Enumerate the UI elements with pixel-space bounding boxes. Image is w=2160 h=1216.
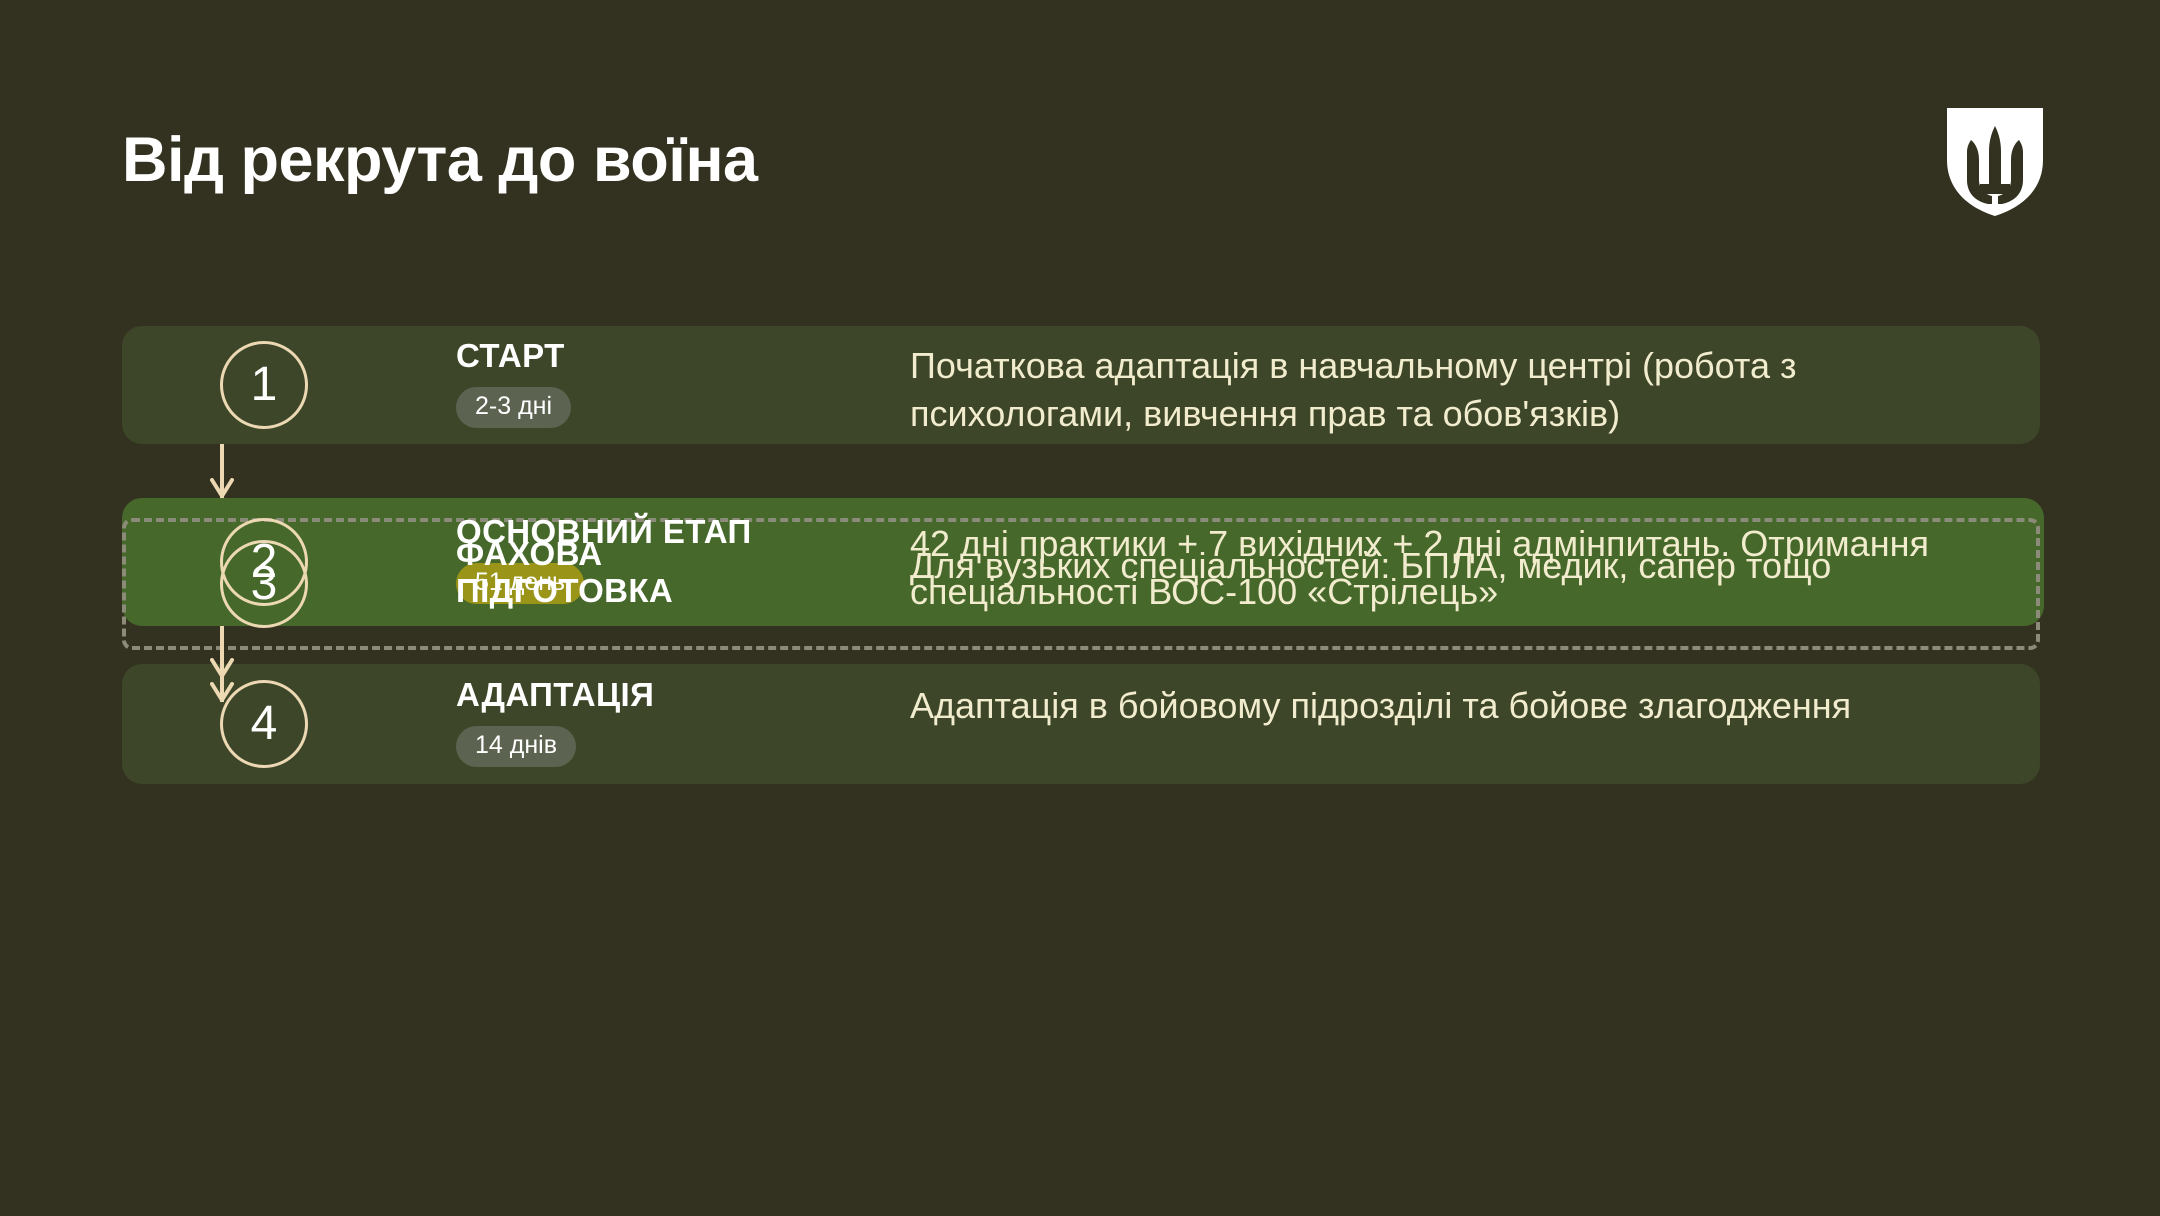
timeline-stage-1[interactable]: 1 СТАРТ 2-3 дні Початкова адаптація в на… [122, 326, 2040, 444]
stage-3-description: Для вузьких спеціальностей: БПЛА, медик,… [910, 542, 2020, 590]
stage-4-description: Адаптація в бойовому підрозділі та бойов… [910, 682, 2020, 730]
stage-4-number: 4 [220, 680, 308, 768]
stage-1-duration-badge: 2-3 дні [456, 387, 571, 428]
connector-stage-1-to-2 [220, 444, 224, 498]
stage-4-name: АДАПТАЦІЯ [456, 677, 654, 714]
stage-3-name: ФАХОВА ПІДГОТОВКА [456, 536, 673, 610]
connector-stage-3-to-4 [220, 650, 224, 702]
ukraine-armed-forces-shield-trident-icon [1947, 108, 2043, 216]
stage-4-duration-badge: 14 днів [456, 726, 576, 767]
stage-4-label: АДАПТАЦІЯ 14 днів [456, 677, 654, 767]
header: Від рекрута до воїна [0, 0, 2160, 300]
stage-3-number: 3 [220, 540, 308, 628]
stage-1-name: СТАРТ [456, 338, 571, 375]
page-title: Від рекрута до воїна [122, 124, 758, 196]
stage-1-label: СТАРТ 2-3 дні [456, 338, 571, 428]
stage-1-number: 1 [220, 341, 308, 429]
stage-1-description: Початкова адаптація в навчальному центрі… [910, 342, 2020, 437]
timeline-stage-4[interactable]: 4 АДАПТАЦІЯ 14 днів Адаптація в бойовому… [122, 664, 2040, 784]
stage-3-label: ФАХОВА ПІДГОТОВКА [456, 536, 673, 610]
arrow-down-icon [210, 478, 234, 500]
